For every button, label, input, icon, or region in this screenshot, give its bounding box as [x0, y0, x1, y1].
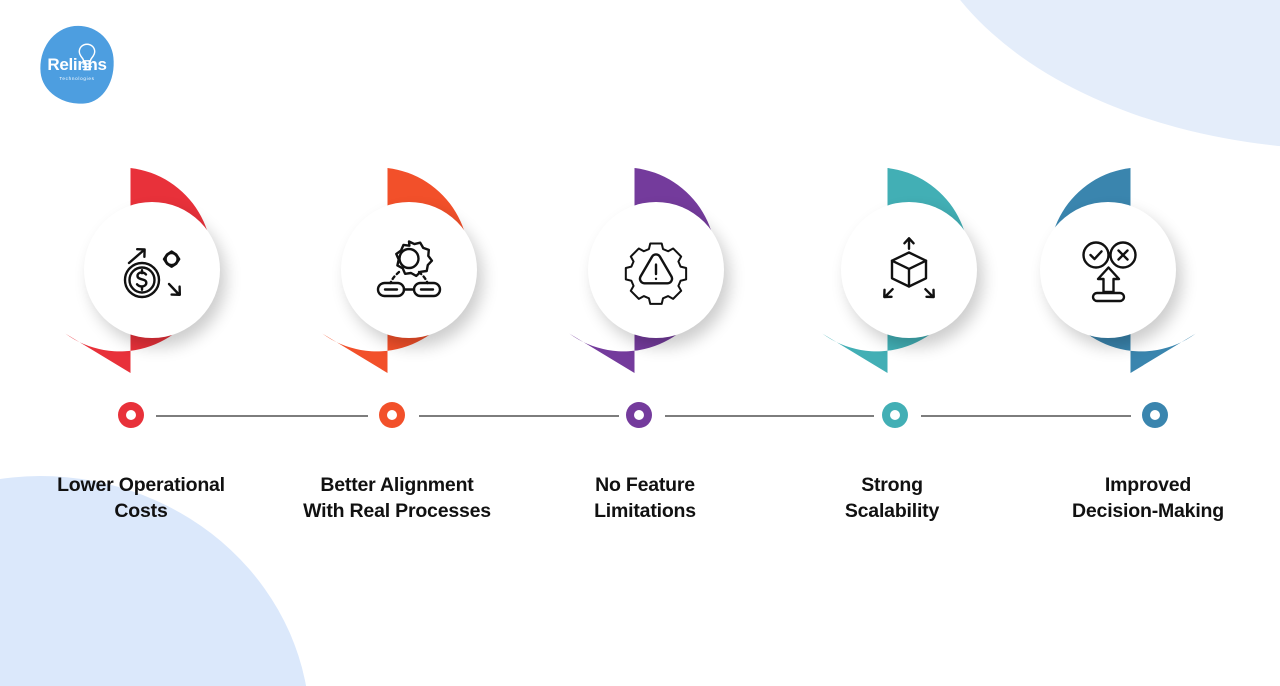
step-label-3-line2: Limitations	[520, 498, 770, 524]
pin-disc-2	[341, 202, 477, 338]
step-label-5: Improved Decision-Making	[1023, 472, 1273, 524]
step-label-1-line1: Lower Operational	[16, 472, 266, 498]
pin-cell-4[interactable]	[775, 158, 1025, 383]
coin-dollar-gear-arrows-icon	[113, 231, 191, 309]
logo-tagline: Technologies	[59, 76, 94, 81]
pin-cell-5[interactable]	[1018, 158, 1268, 383]
step-label-2: Better Alignment With Real Processes	[272, 472, 522, 524]
gear-warning-triangle-icon	[617, 231, 695, 309]
pin-row	[0, 158, 1280, 383]
step-label-4: Strong Scalability	[767, 472, 1017, 524]
label-row: Lower Operational Costs Better Alignment…	[0, 472, 1280, 542]
step-label-5-line2: Decision-Making	[1023, 498, 1273, 524]
pin-disc-1	[84, 202, 220, 338]
step-label-1-line2: Costs	[16, 498, 266, 524]
timeline-connector	[0, 402, 1280, 430]
logo-wordmark: Relinns	[47, 56, 106, 73]
timeline-dot-1[interactable]	[118, 402, 144, 428]
step-label-3-line1: No Feature	[520, 472, 770, 498]
step-label-1: Lower Operational Costs	[16, 472, 266, 524]
pin-cell-1[interactable]	[18, 158, 268, 383]
timeline-dot-4[interactable]	[882, 402, 908, 428]
pin-disc-5	[1040, 202, 1176, 338]
step-label-4-line1: Strong	[767, 472, 1017, 498]
logo-text-group: Relinns Technologies	[40, 26, 114, 104]
infographic-canvas: Relinns Technologies	[0, 0, 1280, 686]
pin-disc-3	[588, 202, 724, 338]
step-label-4-line2: Scalability	[767, 498, 1017, 524]
connector-line-2-3	[419, 415, 619, 417]
pin-cell-2[interactable]	[275, 158, 525, 383]
connector-line-4-5	[921, 415, 1131, 417]
pin-disc-4	[841, 202, 977, 338]
cube-expand-arrows-icon	[870, 231, 948, 309]
timeline-dot-3[interactable]	[626, 402, 652, 428]
gear-process-nodes-icon	[370, 231, 448, 309]
connector-line-1-2	[156, 415, 368, 417]
timeline-dot-2[interactable]	[379, 402, 405, 428]
step-label-2-line1: Better Alignment	[272, 472, 522, 498]
connector-line-3-4	[665, 415, 874, 417]
step-label-3: No Feature Limitations	[520, 472, 770, 524]
step-label-5-line1: Improved	[1023, 472, 1273, 498]
arrow-up-check-cross-icon	[1069, 231, 1147, 309]
brand-logo[interactable]: Relinns Technologies	[40, 26, 114, 104]
step-label-2-line2: With Real Processes	[272, 498, 522, 524]
pin-cell-3[interactable]	[522, 158, 772, 383]
timeline-dot-5[interactable]	[1142, 402, 1168, 428]
